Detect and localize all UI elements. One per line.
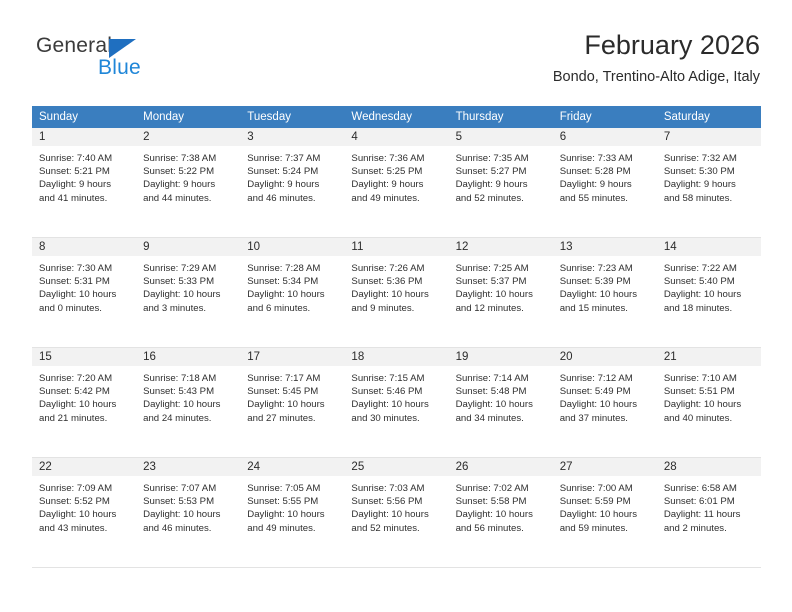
weekday-header-monday: Monday — [136, 106, 240, 128]
calendar-cell[interactable]: 27Sunrise: 7:00 AMSunset: 5:59 PMDayligh… — [553, 458, 657, 568]
day-cell[interactable]: 10Sunrise: 7:28 AMSunset: 5:34 PMDayligh… — [240, 238, 344, 348]
logo-text-blue: Blue — [98, 56, 141, 80]
day-cell[interactable]: 6Sunrise: 7:33 AMSunset: 5:28 PMDaylight… — [553, 128, 657, 238]
weekday-header-wednesday: Wednesday — [344, 106, 448, 128]
sunrise-line: Sunrise: 7:05 AM — [247, 482, 338, 495]
sunset-line: Sunset: 5:58 PM — [456, 495, 547, 508]
day-details: Sunrise: 7:35 AMSunset: 5:27 PMDaylight:… — [449, 146, 553, 205]
daylight-line-2: and 37 minutes. — [560, 412, 651, 425]
page-subtitle: Bondo, Trentino-Alto Adige, Italy — [553, 66, 760, 88]
calendar-cell[interactable]: 4Sunrise: 7:36 AMSunset: 5:25 PMDaylight… — [344, 128, 448, 238]
day-cell[interactable]: 8Sunrise: 7:30 AMSunset: 5:31 PMDaylight… — [32, 238, 136, 348]
daylight-line-2: and 46 minutes. — [143, 522, 234, 535]
day-cell[interactable]: 12Sunrise: 7:25 AMSunset: 5:37 PMDayligh… — [449, 238, 553, 348]
daylight-line-2: and 56 minutes. — [456, 522, 547, 535]
day-details: Sunrise: 7:22 AMSunset: 5:40 PMDaylight:… — [657, 256, 761, 315]
calendar-cell[interactable]: 17Sunrise: 7:17 AMSunset: 5:45 PMDayligh… — [240, 348, 344, 458]
daylight-line-1: Daylight: 10 hours — [39, 398, 130, 411]
sunrise-line: Sunrise: 7:38 AM — [143, 152, 234, 165]
daylight-line-1: Daylight: 9 hours — [664, 178, 755, 191]
daylight-line-2: and 6 minutes. — [247, 302, 338, 315]
calendar-cell[interactable]: 28Sunrise: 6:58 AMSunset: 6:01 PMDayligh… — [657, 458, 761, 568]
sunrise-line: Sunrise: 7:36 AM — [351, 152, 442, 165]
page-title: February 2026 — [553, 28, 760, 62]
sunrise-line: Sunrise: 7:25 AM — [456, 262, 547, 275]
day-details: Sunrise: 7:17 AMSunset: 5:45 PMDaylight:… — [240, 366, 344, 425]
title-block: February 2026 Bondo, Trentino-Alto Adige… — [553, 28, 760, 88]
day-number: 10 — [240, 238, 344, 256]
day-details: Sunrise: 7:23 AMSunset: 5:39 PMDaylight:… — [553, 256, 657, 315]
day-details: Sunrise: 7:36 AMSunset: 5:25 PMDaylight:… — [344, 146, 448, 205]
day-number: 2 — [136, 128, 240, 146]
sunset-line: Sunset: 5:56 PM — [351, 495, 442, 508]
sunset-line: Sunset: 5:59 PM — [560, 495, 651, 508]
sunset-line: Sunset: 5:45 PM — [247, 385, 338, 398]
day-number: 26 — [449, 458, 553, 476]
day-details: Sunrise: 7:03 AMSunset: 5:56 PMDaylight:… — [344, 476, 448, 535]
calendar-cell[interactable]: 5Sunrise: 7:35 AMSunset: 5:27 PMDaylight… — [449, 128, 553, 238]
sunrise-line: Sunrise: 7:07 AM — [143, 482, 234, 495]
daylight-line-2: and 43 minutes. — [39, 522, 130, 535]
day-number: 21 — [657, 348, 761, 366]
daylight-line-2: and 44 minutes. — [143, 192, 234, 205]
calendar-grid: Sunday Monday Tuesday Wednesday Thursday… — [32, 106, 761, 568]
daylight-line-2: and 58 minutes. — [664, 192, 755, 205]
sunset-line: Sunset: 5:30 PM — [664, 165, 755, 178]
day-number: 17 — [240, 348, 344, 366]
day-number: 23 — [136, 458, 240, 476]
calendar-week-row: 1Sunrise: 7:40 AMSunset: 5:21 PMDaylight… — [32, 128, 761, 238]
day-cell[interactable]: 17Sunrise: 7:17 AMSunset: 5:45 PMDayligh… — [240, 348, 344, 458]
calendar-cell[interactable]: 14Sunrise: 7:22 AMSunset: 5:40 PMDayligh… — [657, 238, 761, 348]
daylight-line-1: Daylight: 10 hours — [351, 288, 442, 301]
day-number: 27 — [553, 458, 657, 476]
sunrise-line: Sunrise: 6:58 AM — [664, 482, 755, 495]
daylight-line-1: Daylight: 10 hours — [143, 288, 234, 301]
sunset-line: Sunset: 5:43 PM — [143, 385, 234, 398]
weekday-header-tuesday: Tuesday — [240, 106, 344, 128]
daylight-line-2: and 9 minutes. — [351, 302, 442, 315]
day-details: Sunrise: 7:38 AMSunset: 5:22 PMDaylight:… — [136, 146, 240, 205]
day-cell[interactable]: 24Sunrise: 7:05 AMSunset: 5:55 PMDayligh… — [240, 458, 344, 568]
day-cell[interactable]: 7Sunrise: 7:32 AMSunset: 5:30 PMDaylight… — [657, 128, 761, 238]
daylight-line-1: Daylight: 10 hours — [456, 508, 547, 521]
sunrise-line: Sunrise: 7:23 AM — [560, 262, 651, 275]
weekday-header-sunday: Sunday — [32, 106, 136, 128]
daylight-line-1: Daylight: 9 hours — [456, 178, 547, 191]
sunrise-line: Sunrise: 7:29 AM — [143, 262, 234, 275]
day-number: 15 — [32, 348, 136, 366]
sunset-line: Sunset: 5:52 PM — [39, 495, 130, 508]
daylight-line-2: and 15 minutes. — [560, 302, 651, 315]
day-cell[interactable]: 26Sunrise: 7:02 AMSunset: 5:58 PMDayligh… — [449, 458, 553, 568]
day-cell[interactable]: 3Sunrise: 7:37 AMSunset: 5:24 PMDaylight… — [240, 128, 344, 238]
daylight-line-2: and 40 minutes. — [664, 412, 755, 425]
day-cell[interactable]: 23Sunrise: 7:07 AMSunset: 5:53 PMDayligh… — [136, 458, 240, 568]
day-number: 19 — [449, 348, 553, 366]
sunrise-line: Sunrise: 7:10 AM — [664, 372, 755, 385]
daylight-line-2: and 49 minutes. — [247, 522, 338, 535]
day-cell[interactable]: 4Sunrise: 7:36 AMSunset: 5:25 PMDaylight… — [344, 128, 448, 238]
sunrise-line: Sunrise: 7:02 AM — [456, 482, 547, 495]
sunset-line: Sunset: 5:22 PM — [143, 165, 234, 178]
day-number: 13 — [553, 238, 657, 256]
day-details: Sunrise: 7:20 AMSunset: 5:42 PMDaylight:… — [32, 366, 136, 425]
calendar-week-row: 22Sunrise: 7:09 AMSunset: 5:52 PMDayligh… — [32, 458, 761, 568]
calendar-cell[interactable]: 2Sunrise: 7:38 AMSunset: 5:22 PMDaylight… — [136, 128, 240, 238]
day-number: 24 — [240, 458, 344, 476]
calendar-cell[interactable]: 1Sunrise: 7:40 AMSunset: 5:21 PMDaylight… — [32, 128, 136, 238]
daylight-line-2: and 52 minutes. — [351, 522, 442, 535]
sunrise-line: Sunrise: 7:17 AM — [247, 372, 338, 385]
day-details: Sunrise: 7:18 AMSunset: 5:43 PMDaylight:… — [136, 366, 240, 425]
daylight-line-1: Daylight: 10 hours — [664, 288, 755, 301]
daylight-line-2: and 21 minutes. — [39, 412, 130, 425]
sunset-line: Sunset: 5:46 PM — [351, 385, 442, 398]
sunrise-line: Sunrise: 7:00 AM — [560, 482, 651, 495]
day-cell[interactable]: 13Sunrise: 7:23 AMSunset: 5:39 PMDayligh… — [553, 238, 657, 348]
day-details: Sunrise: 7:37 AMSunset: 5:24 PMDaylight:… — [240, 146, 344, 205]
day-cell[interactable]: 2Sunrise: 7:38 AMSunset: 5:22 PMDaylight… — [136, 128, 240, 238]
day-details: Sunrise: 7:09 AMSunset: 5:52 PMDaylight:… — [32, 476, 136, 535]
sunset-line: Sunset: 5:28 PM — [560, 165, 651, 178]
day-number: 28 — [657, 458, 761, 476]
calendar-cell[interactable]: 25Sunrise: 7:03 AMSunset: 5:56 PMDayligh… — [344, 458, 448, 568]
day-cell[interactable]: 15Sunrise: 7:20 AMSunset: 5:42 PMDayligh… — [32, 348, 136, 458]
day-details: Sunrise: 7:32 AMSunset: 5:30 PMDaylight:… — [657, 146, 761, 205]
daylight-line-2: and 34 minutes. — [456, 412, 547, 425]
calendar-cell[interactable]: 15Sunrise: 7:20 AMSunset: 5:42 PMDayligh… — [32, 348, 136, 458]
sunrise-line: Sunrise: 7:37 AM — [247, 152, 338, 165]
day-cell[interactable]: 16Sunrise: 7:18 AMSunset: 5:43 PMDayligh… — [136, 348, 240, 458]
sunrise-line: Sunrise: 7:28 AM — [247, 262, 338, 275]
day-details: Sunrise: 7:28 AMSunset: 5:34 PMDaylight:… — [240, 256, 344, 315]
day-details: Sunrise: 7:07 AMSunset: 5:53 PMDaylight:… — [136, 476, 240, 535]
sunset-line: Sunset: 5:36 PM — [351, 275, 442, 288]
daylight-line-1: Daylight: 10 hours — [351, 508, 442, 521]
daylight-line-2: and 30 minutes. — [351, 412, 442, 425]
daylight-line-2: and 59 minutes. — [560, 522, 651, 535]
weekday-header-row: Sunday Monday Tuesday Wednesday Thursday… — [32, 106, 761, 128]
sunset-line: Sunset: 5:40 PM — [664, 275, 755, 288]
calendar-cell[interactable]: 8Sunrise: 7:30 AMSunset: 5:31 PMDaylight… — [32, 238, 136, 348]
daylight-line-1: Daylight: 10 hours — [351, 398, 442, 411]
daylight-line-2: and 55 minutes. — [560, 192, 651, 205]
daylight-line-2: and 0 minutes. — [39, 302, 130, 315]
day-details: Sunrise: 7:40 AMSunset: 5:21 PMDaylight:… — [32, 146, 136, 205]
day-number: 9 — [136, 238, 240, 256]
calendar-cell[interactable]: 13Sunrise: 7:23 AMSunset: 5:39 PMDayligh… — [553, 238, 657, 348]
sunrise-line: Sunrise: 7:22 AM — [664, 262, 755, 275]
day-cell[interactable]: 1Sunrise: 7:40 AMSunset: 5:21 PMDaylight… — [32, 128, 136, 238]
calendar-cell[interactable]: 20Sunrise: 7:12 AMSunset: 5:49 PMDayligh… — [553, 348, 657, 458]
day-number: 5 — [449, 128, 553, 146]
day-cell[interactable]: 22Sunrise: 7:09 AMSunset: 5:52 PMDayligh… — [32, 458, 136, 568]
sunset-line: Sunset: 5:49 PM — [560, 385, 651, 398]
sunset-line: Sunset: 5:24 PM — [247, 165, 338, 178]
day-cell[interactable]: 11Sunrise: 7:26 AMSunset: 5:36 PMDayligh… — [344, 238, 448, 348]
day-number: 12 — [449, 238, 553, 256]
sunset-line: Sunset: 5:39 PM — [560, 275, 651, 288]
daylight-line-1: Daylight: 10 hours — [664, 398, 755, 411]
day-details: Sunrise: 7:10 AMSunset: 5:51 PMDaylight:… — [657, 366, 761, 425]
day-cell[interactable]: 27Sunrise: 7:00 AMSunset: 5:59 PMDayligh… — [553, 458, 657, 568]
daylight-line-2: and 24 minutes. — [143, 412, 234, 425]
calendar-cell[interactable]: 16Sunrise: 7:18 AMSunset: 5:43 PMDayligh… — [136, 348, 240, 458]
weekday-header-friday: Friday — [553, 106, 657, 128]
day-details: Sunrise: 7:30 AMSunset: 5:31 PMDaylight:… — [32, 256, 136, 315]
sunset-line: Sunset: 6:01 PM — [664, 495, 755, 508]
sunrise-line: Sunrise: 7:14 AM — [456, 372, 547, 385]
daylight-line-2: and 46 minutes. — [247, 192, 338, 205]
day-details: Sunrise: 7:05 AMSunset: 5:55 PMDaylight:… — [240, 476, 344, 535]
calendar-cell[interactable]: 23Sunrise: 7:07 AMSunset: 5:53 PMDayligh… — [136, 458, 240, 568]
day-number: 4 — [344, 128, 448, 146]
sunset-line: Sunset: 5:33 PM — [143, 275, 234, 288]
daylight-line-2: and 3 minutes. — [143, 302, 234, 315]
sunset-line: Sunset: 5:31 PM — [39, 275, 130, 288]
sunset-line: Sunset: 5:42 PM — [39, 385, 130, 398]
day-details: Sunrise: 7:02 AMSunset: 5:58 PMDaylight:… — [449, 476, 553, 535]
calendar-cell[interactable]: 10Sunrise: 7:28 AMSunset: 5:34 PMDayligh… — [240, 238, 344, 348]
weekday-header-saturday: Saturday — [657, 106, 761, 128]
daylight-line-1: Daylight: 10 hours — [39, 288, 130, 301]
day-cell[interactable]: 19Sunrise: 7:14 AMSunset: 5:48 PMDayligh… — [449, 348, 553, 458]
daylight-line-2: and 41 minutes. — [39, 192, 130, 205]
sunrise-line: Sunrise: 7:30 AM — [39, 262, 130, 275]
sunset-line: Sunset: 5:34 PM — [247, 275, 338, 288]
sunset-line: Sunset: 5:21 PM — [39, 165, 130, 178]
day-number: 7 — [657, 128, 761, 146]
day-details: Sunrise: 6:58 AMSunset: 6:01 PMDaylight:… — [657, 476, 761, 535]
calendar-cell[interactable]: 11Sunrise: 7:26 AMSunset: 5:36 PMDayligh… — [344, 238, 448, 348]
sunrise-line: Sunrise: 7:12 AM — [560, 372, 651, 385]
calendar-body: 1Sunrise: 7:40 AMSunset: 5:21 PMDaylight… — [32, 128, 761, 568]
sunrise-line: Sunrise: 7:26 AM — [351, 262, 442, 275]
calendar-week-row: 8Sunrise: 7:30 AMSunset: 5:31 PMDaylight… — [32, 238, 761, 348]
general-blue-logo[interactable]: General Blue — [36, 34, 236, 90]
day-details: Sunrise: 7:25 AMSunset: 5:37 PMDaylight:… — [449, 256, 553, 315]
day-number: 8 — [32, 238, 136, 256]
sunset-line: Sunset: 5:53 PM — [143, 495, 234, 508]
day-number: 14 — [657, 238, 761, 256]
sunset-line: Sunset: 5:48 PM — [456, 385, 547, 398]
logo-text-general: General — [36, 34, 112, 58]
day-number: 20 — [553, 348, 657, 366]
day-cell[interactable]: 25Sunrise: 7:03 AMSunset: 5:56 PMDayligh… — [344, 458, 448, 568]
daylight-line-1: Daylight: 10 hours — [247, 398, 338, 411]
sunrise-line: Sunrise: 7:40 AM — [39, 152, 130, 165]
daylight-line-1: Daylight: 9 hours — [351, 178, 442, 191]
daylight-line-1: Daylight: 9 hours — [39, 178, 130, 191]
sunrise-line: Sunrise: 7:33 AM — [560, 152, 651, 165]
daylight-line-1: Daylight: 10 hours — [560, 508, 651, 521]
day-details: Sunrise: 7:33 AMSunset: 5:28 PMDaylight:… — [553, 146, 657, 205]
daylight-line-2: and 49 minutes. — [351, 192, 442, 205]
calendar-cell[interactable]: 24Sunrise: 7:05 AMSunset: 5:55 PMDayligh… — [240, 458, 344, 568]
sunset-line: Sunset: 5:37 PM — [456, 275, 547, 288]
calendar-week-row: 15Sunrise: 7:20 AMSunset: 5:42 PMDayligh… — [32, 348, 761, 458]
daylight-line-1: Daylight: 10 hours — [247, 288, 338, 301]
day-details: Sunrise: 7:00 AMSunset: 5:59 PMDaylight:… — [553, 476, 657, 535]
sunrise-line: Sunrise: 7:20 AM — [39, 372, 130, 385]
day-details: Sunrise: 7:29 AMSunset: 5:33 PMDaylight:… — [136, 256, 240, 315]
sunset-line: Sunset: 5:25 PM — [351, 165, 442, 178]
day-number: 3 — [240, 128, 344, 146]
calendar-cell[interactable]: 7Sunrise: 7:32 AMSunset: 5:30 PMDaylight… — [657, 128, 761, 238]
day-cell[interactable]: 28Sunrise: 6:58 AMSunset: 6:01 PMDayligh… — [657, 458, 761, 568]
weekday-header-thursday: Thursday — [449, 106, 553, 128]
daylight-line-1: Daylight: 9 hours — [247, 178, 338, 191]
day-cell[interactable]: 9Sunrise: 7:29 AMSunset: 5:33 PMDaylight… — [136, 238, 240, 348]
calendar-cell[interactable]: 3Sunrise: 7:37 AMSunset: 5:24 PMDaylight… — [240, 128, 344, 238]
calendar-cell[interactable]: 18Sunrise: 7:15 AMSunset: 5:46 PMDayligh… — [344, 348, 448, 458]
calendar-cell[interactable]: 22Sunrise: 7:09 AMSunset: 5:52 PMDayligh… — [32, 458, 136, 568]
daylight-line-1: Daylight: 10 hours — [560, 398, 651, 411]
daylight-line-1: Daylight: 10 hours — [39, 508, 130, 521]
calendar-cell[interactable]: 19Sunrise: 7:14 AMSunset: 5:48 PMDayligh… — [449, 348, 553, 458]
day-number: 1 — [32, 128, 136, 146]
sunset-line: Sunset: 5:55 PM — [247, 495, 338, 508]
daylight-line-2: and 27 minutes. — [247, 412, 338, 425]
page-header: General Blue February 2026 Bondo, Trenti… — [32, 28, 760, 90]
daylight-line-1: Daylight: 10 hours — [560, 288, 651, 301]
sunrise-line: Sunrise: 7:09 AM — [39, 482, 130, 495]
day-cell[interactable]: 21Sunrise: 7:10 AMSunset: 5:51 PMDayligh… — [657, 348, 761, 458]
day-details: Sunrise: 7:26 AMSunset: 5:36 PMDaylight:… — [344, 256, 448, 315]
day-cell[interactable]: 14Sunrise: 7:22 AMSunset: 5:40 PMDayligh… — [657, 238, 761, 348]
daylight-line-2: and 18 minutes. — [664, 302, 755, 315]
sunrise-line: Sunrise: 7:18 AM — [143, 372, 234, 385]
day-cell[interactable]: 5Sunrise: 7:35 AMSunset: 5:27 PMDaylight… — [449, 128, 553, 238]
sunrise-line: Sunrise: 7:32 AM — [664, 152, 755, 165]
daylight-line-1: Daylight: 9 hours — [143, 178, 234, 191]
calendar-cell[interactable]: 21Sunrise: 7:10 AMSunset: 5:51 PMDayligh… — [657, 348, 761, 458]
day-number: 22 — [32, 458, 136, 476]
day-number: 18 — [344, 348, 448, 366]
day-number: 25 — [344, 458, 448, 476]
daylight-line-1: Daylight: 10 hours — [456, 398, 547, 411]
daylight-line-2: and 12 minutes. — [456, 302, 547, 315]
daylight-line-1: Daylight: 10 hours — [143, 508, 234, 521]
daylight-line-1: Daylight: 10 hours — [247, 508, 338, 521]
day-number: 11 — [344, 238, 448, 256]
day-details: Sunrise: 7:15 AMSunset: 5:46 PMDaylight:… — [344, 366, 448, 425]
day-details: Sunrise: 7:12 AMSunset: 5:49 PMDaylight:… — [553, 366, 657, 425]
daylight-line-1: Daylight: 10 hours — [456, 288, 547, 301]
sunrise-line: Sunrise: 7:03 AM — [351, 482, 442, 495]
daylight-line-1: Daylight: 9 hours — [560, 178, 651, 191]
calendar-cell[interactable]: 12Sunrise: 7:25 AMSunset: 5:37 PMDayligh… — [449, 238, 553, 348]
day-cell[interactable]: 18Sunrise: 7:15 AMSunset: 5:46 PMDayligh… — [344, 348, 448, 458]
day-number: 16 — [136, 348, 240, 366]
daylight-line-1: Daylight: 10 hours — [143, 398, 234, 411]
daylight-line-2: and 2 minutes. — [664, 522, 755, 535]
sunset-line: Sunset: 5:51 PM — [664, 385, 755, 398]
day-cell[interactable]: 20Sunrise: 7:12 AMSunset: 5:49 PMDayligh… — [553, 348, 657, 458]
calendar-page: General Blue February 2026 Bondo, Trenti… — [0, 0, 792, 612]
daylight-line-1: Daylight: 11 hours — [664, 508, 755, 521]
calendar-cell[interactable]: 9Sunrise: 7:29 AMSunset: 5:33 PMDaylight… — [136, 238, 240, 348]
day-details: Sunrise: 7:14 AMSunset: 5:48 PMDaylight:… — [449, 366, 553, 425]
calendar-cell[interactable]: 26Sunrise: 7:02 AMSunset: 5:58 PMDayligh… — [449, 458, 553, 568]
sunrise-line: Sunrise: 7:15 AM — [351, 372, 442, 385]
sunset-line: Sunset: 5:27 PM — [456, 165, 547, 178]
day-number: 6 — [553, 128, 657, 146]
calendar-cell[interactable]: 6Sunrise: 7:33 AMSunset: 5:28 PMDaylight… — [553, 128, 657, 238]
daylight-line-2: and 52 minutes. — [456, 192, 547, 205]
sunrise-line: Sunrise: 7:35 AM — [456, 152, 547, 165]
